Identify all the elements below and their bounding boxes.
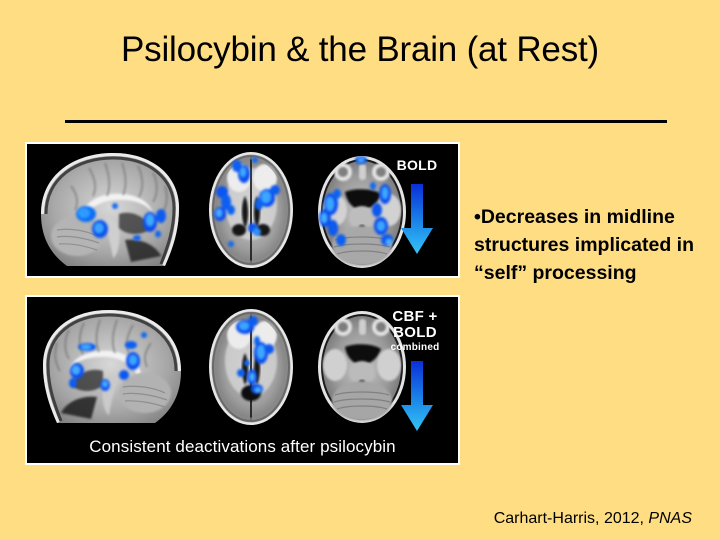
title-divider [65, 120, 667, 123]
brain-slice-sagittal-cbf [27, 297, 195, 437]
citation: Carhart-Harris, 2012, PNAS [494, 510, 692, 528]
brain-slice-axial-mid-cbf [195, 297, 307, 437]
figure-panel-cbf-bold: CBF + BOLD combined Consistent deactivat… [25, 295, 460, 465]
figure-caption: Consistent deactivations after psilocybi… [27, 437, 458, 457]
panel-label-cbf-bold: CBF + BOLD combined [380, 309, 450, 353]
panel-label-bold: BOLD [384, 158, 450, 173]
down-arrow-icon-bold [400, 182, 434, 263]
figure-panel-bold: BOLD [25, 142, 460, 278]
citation-authors-year: Carhart-Harris, 2012, [494, 510, 649, 527]
panel-label-line2: BOLD [393, 324, 437, 341]
citation-journal: PNAS [648, 510, 692, 527]
panel-label-line3: combined [380, 343, 450, 354]
panel-label-line1: CBF + [392, 308, 437, 325]
bullet-text: •Decreases in midline structures implica… [474, 203, 706, 287]
brain-slice-axial-mid-bold [195, 144, 307, 276]
brain-slice-row-bold [27, 144, 418, 276]
page-title: Psilocybin & the Brain (at Rest) [0, 28, 720, 72]
slide-canvas: Psilocybin & the Brain (at Rest) [0, 0, 720, 540]
brain-slice-sagittal-bold [27, 144, 195, 276]
down-arrow-icon-cbf [400, 359, 434, 440]
